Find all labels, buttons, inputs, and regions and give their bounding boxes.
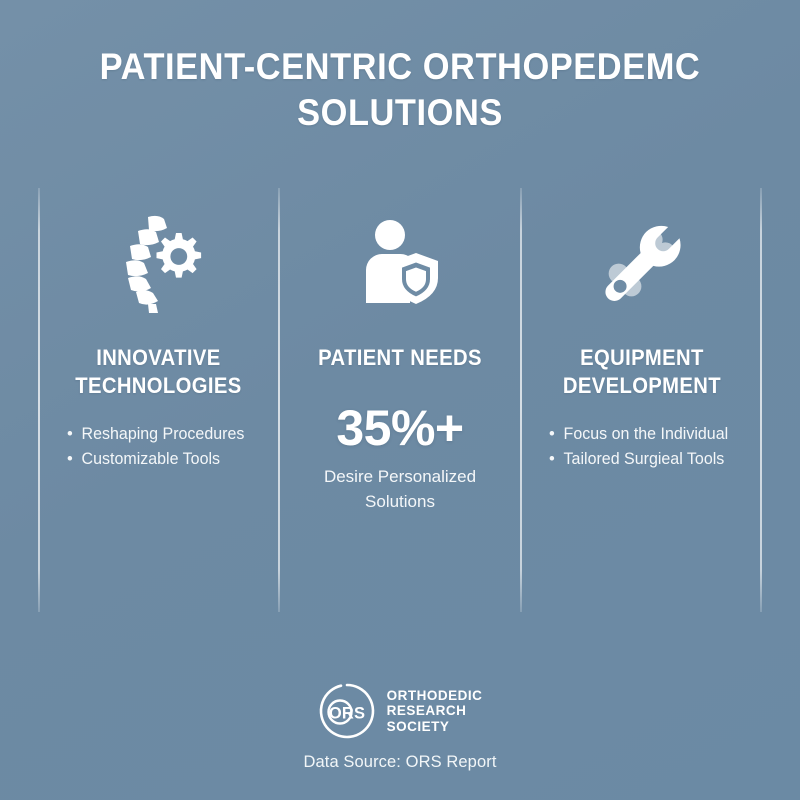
column-equipment-development: EQUIPMENT DEVELOPMENT Focus on the Indiv… bbox=[521, 188, 762, 612]
bullet-list-equipment-development: Focus on the Individual Tailored Surgiea… bbox=[549, 422, 734, 472]
person-shield-icon bbox=[352, 198, 448, 328]
ors-logo-line-1: ORTHODEDIC bbox=[387, 688, 483, 704]
data-source-note: Data Source: ORS Report bbox=[303, 753, 496, 772]
page-title-line-1: PATIENT-CENTRIC ORTHOPEDEMC bbox=[93, 44, 707, 90]
ors-logo-line-3: SOCIETY bbox=[387, 719, 483, 735]
wrench-bone-icon bbox=[592, 198, 692, 328]
column-heading-line-2: DEVELOPMENT bbox=[563, 372, 721, 400]
column-patient-needs: PATIENT NEEDS 35%+ Desire Personalized S… bbox=[279, 188, 522, 612]
column-innovative-technologies: INNOVATIVE TECHNOLOGIES Reshaping Proced… bbox=[38, 188, 279, 612]
spine-gear-icon bbox=[110, 198, 206, 328]
svg-text:ORS: ORS bbox=[328, 705, 364, 723]
stat-caption-line-2: Solutions bbox=[324, 489, 476, 514]
footer: ORS ORTHODEDIC RESEARCH SOCIETY Data Sou… bbox=[0, 682, 800, 772]
list-item: Tailored Surgieal Tools bbox=[549, 447, 728, 472]
stat-value-patient-needs: 35%+ bbox=[336, 400, 463, 456]
infographic-poster: PATIENT-CENTRIC ORTHOPEDEMC SOLUTIONS bbox=[0, 0, 800, 800]
bullet-list-innovative-technologies: Reshaping Procedures Customizable Tools bbox=[67, 422, 250, 472]
column-heading-line-1: PATIENT NEEDS bbox=[318, 344, 482, 372]
ors-logo-text: ORTHODEDIC RESEARCH SOCIETY bbox=[387, 688, 483, 735]
page-title-line-2: SOLUTIONS bbox=[93, 90, 707, 136]
column-heading-line-1: INNOVATIVE bbox=[75, 344, 241, 372]
list-item: Reshaping Procedures bbox=[67, 422, 244, 447]
column-heading-innovative-technologies: INNOVATIVE TECHNOLOGIES bbox=[75, 344, 241, 400]
list-item: Customizable Tools bbox=[67, 447, 244, 472]
ors-logo: ORS ORTHODEDIC RESEARCH SOCIETY bbox=[318, 682, 483, 740]
column-heading-equipment-development: EQUIPMENT DEVELOPMENT bbox=[563, 344, 721, 400]
column-heading-line-1: EQUIPMENT bbox=[563, 344, 721, 372]
columns-container: INNOVATIVE TECHNOLOGIES Reshaping Proced… bbox=[38, 188, 762, 612]
ors-logo-line-2: RESEARCH bbox=[387, 703, 483, 719]
stat-caption-patient-needs: Desire Personalized Solutions bbox=[324, 464, 476, 514]
page-title: PATIENT-CENTRIC ORTHOPEDEMC SOLUTIONS bbox=[70, 44, 730, 136]
column-heading-patient-needs: PATIENT NEEDS bbox=[318, 344, 482, 372]
stat-caption-line-1: Desire Personalized bbox=[324, 464, 476, 489]
column-heading-line-2: TECHNOLOGIES bbox=[75, 372, 241, 400]
ors-logo-mark: ORS bbox=[318, 682, 376, 740]
list-item: Focus on the Individual bbox=[549, 422, 728, 447]
